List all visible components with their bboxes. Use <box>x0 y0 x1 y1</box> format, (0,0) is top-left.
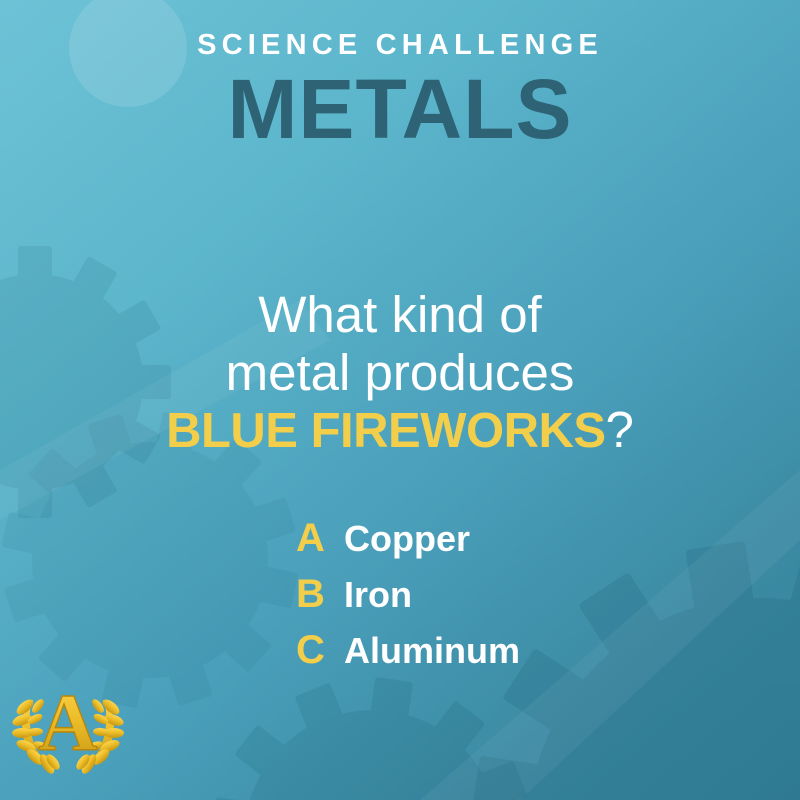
option-b[interactable]: B Iron <box>296 574 520 614</box>
question-line-2: metal produces <box>100 344 700 402</box>
question-line-3: BLUE FIREWORKS? <box>100 401 700 459</box>
header: SCIENCE CHALLENGE METALS <box>0 0 800 153</box>
option-c-letter: C <box>296 630 328 670</box>
option-a[interactable]: A Copper <box>296 518 520 558</box>
question-mark: ? <box>606 401 634 458</box>
option-b-letter: B <box>296 574 328 614</box>
question-line-1: What kind of <box>100 286 700 344</box>
option-a-letter: A <box>296 518 328 558</box>
quiz-card: SCIENCE CHALLENGE METALS What kind of me… <box>0 0 800 800</box>
page-title: METALS <box>0 60 800 153</box>
gear-bottom-center <box>191 657 552 800</box>
gear-hub-bottom-right <box>579 649 800 800</box>
kicker-text: SCIENCE CHALLENGE <box>0 0 800 60</box>
option-c-label: Aluminum <box>344 633 520 669</box>
logo-letter: A <box>38 677 97 768</box>
question-block: What kind of metal produces BLUE FIREWOR… <box>100 286 700 460</box>
gear-hub-bottom-center <box>313 779 430 800</box>
option-c[interactable]: C Aluminum <box>296 630 520 670</box>
question-highlight: BLUE FIREWORKS <box>166 404 605 458</box>
option-a-label: Copper <box>344 521 470 557</box>
option-b-label: Iron <box>344 577 412 613</box>
answer-options: A Copper B Iron C Aluminum <box>296 518 520 670</box>
laurel-wreath-a-logo: A <box>8 662 128 782</box>
